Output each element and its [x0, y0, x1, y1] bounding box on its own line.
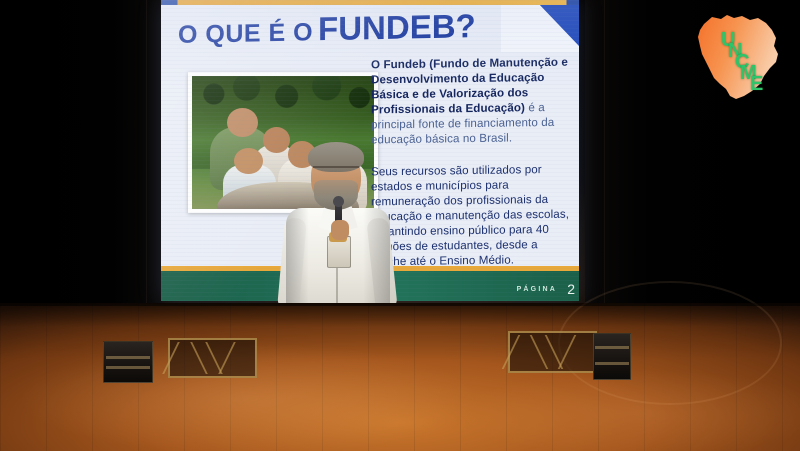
- road-case-band: [595, 362, 628, 365]
- slide-paragraph-1: O Fundeb (Fundo de Manutenção e Desenvol…: [371, 55, 576, 148]
- slide-paragraph-2: Seus recursos são utilizados por estados…: [371, 162, 576, 270]
- curtain-seam: [604, 0, 605, 330]
- truss-diagonal: [205, 342, 223, 374]
- truss-diagonal: [544, 335, 563, 369]
- road-case-band: [106, 366, 150, 369]
- road-case: [103, 341, 153, 383]
- curtain-seam: [146, 0, 147, 330]
- slide-title-small: O QUE É O: [178, 18, 313, 49]
- photo-foliage: [192, 76, 374, 121]
- slide-footer-page-label: PÁGINA: [517, 286, 557, 293]
- logo-letter-e: E: [750, 73, 763, 96]
- slide-title-large: FUNDEB?: [318, 7, 476, 47]
- speaker-hand: [331, 220, 349, 240]
- microphone-head-icon: [333, 196, 344, 207]
- uncme-logo: U N C M E: [690, 4, 790, 108]
- truss-segment: [508, 331, 597, 373]
- road-case-band: [106, 356, 150, 359]
- slide-top-rule: [161, 0, 579, 5]
- truss-segment: [168, 338, 257, 378]
- screenshot-root: O QUE É O FUNDEB? O Fundeb: [0, 0, 800, 451]
- slide-title: O QUE É O FUNDEB?: [178, 7, 476, 51]
- photo-person-adult-head: [227, 108, 258, 137]
- road-case: [593, 333, 631, 380]
- slide-corner-triangle-icon: [537, 2, 579, 46]
- road-case-band: [595, 346, 628, 349]
- slide-footer-page-number: 2: [567, 281, 575, 297]
- stage-curtain-left: [0, 0, 162, 330]
- speaker-glasses-icon: [313, 166, 359, 177]
- floor-front-edge: [0, 303, 800, 306]
